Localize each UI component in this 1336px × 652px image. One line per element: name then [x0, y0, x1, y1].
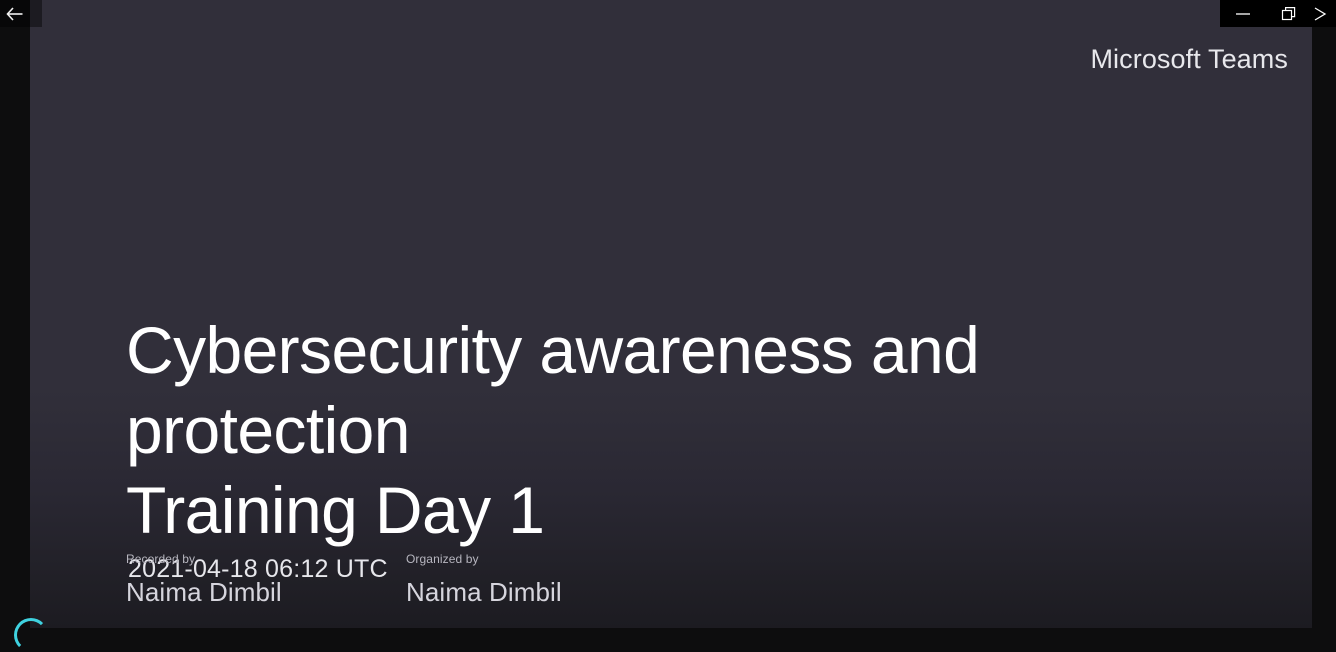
restore-window-icon	[1281, 6, 1297, 22]
microsoft-teams-brand-label: Microsoft Teams	[1090, 44, 1288, 75]
right-gutter	[1312, 0, 1336, 628]
arrow-left-icon	[6, 7, 24, 21]
close-icon	[1314, 7, 1336, 21]
credit-recorded-by: Recorded by Naima Dimbil	[126, 552, 406, 607]
credit-name: Naima Dimbil	[406, 577, 686, 607]
credits-row: Recorded by Naima Dimbil Organized by Na…	[126, 552, 686, 607]
slide-title: Cybersecurity awareness and protection T…	[126, 310, 1256, 550]
video-player-stage: Microsoft Teams Cybersecurity awareness …	[0, 0, 1336, 628]
back-button[interactable]	[0, 0, 30, 27]
minimize-button[interactable]	[1220, 0, 1266, 27]
close-button[interactable]	[1312, 0, 1336, 27]
window-controls	[1220, 0, 1336, 27]
loading-spinner-icon	[14, 618, 48, 652]
credit-name: Naima Dimbil	[126, 577, 406, 607]
credit-organized-by: Organized by Naima Dimbil	[406, 552, 686, 607]
minimize-icon	[1233, 8, 1253, 20]
presentation-slide: Microsoft Teams Cybersecurity awareness …	[30, 0, 1312, 628]
left-gutter	[0, 0, 30, 628]
credit-label: Recorded by	[126, 552, 406, 567]
credit-label: Organized by	[406, 552, 686, 567]
back-button-gap	[30, 0, 42, 27]
title-block: Cybersecurity awareness and protection T…	[126, 310, 1256, 584]
restore-button[interactable]	[1266, 0, 1312, 27]
